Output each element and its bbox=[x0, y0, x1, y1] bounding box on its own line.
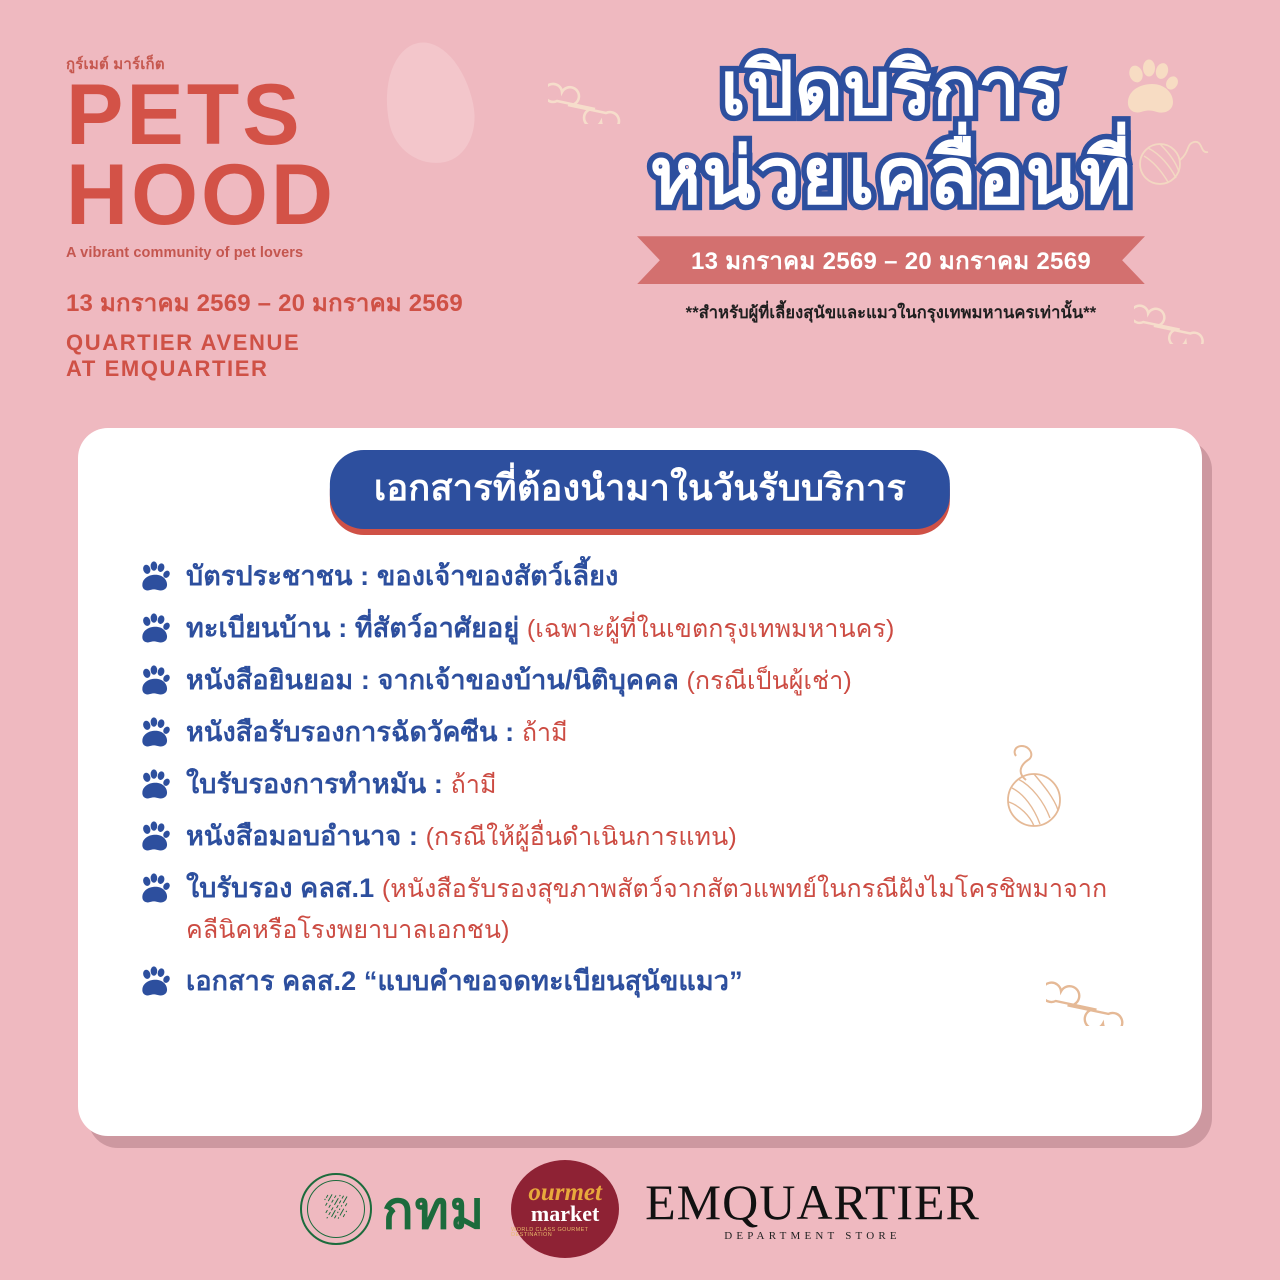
list-item: หนังสือยินยอม : จากเจ้าของบ้าน/นิติบุคคล… bbox=[138, 660, 1172, 701]
emquartier-sub-label: DEPARTMENT STORE bbox=[724, 1230, 901, 1242]
bangkok-seal-icon: ⛆ bbox=[300, 1173, 372, 1245]
eligibility-note: **สำหรับผู้ที่เลี้ยงสุนัขและแมวในกรุงเทพ… bbox=[556, 300, 1226, 326]
list-item: หนังสือรับรองการฉัดวัคซีน : ถ้ามี bbox=[138, 712, 1172, 753]
paw-bullet-icon bbox=[138, 664, 172, 698]
footer-logos: ⛆ กทม ourmet market WORLD CLASS GOURMET … bbox=[0, 1160, 1280, 1258]
venue-line-1: QUARTIER AVENUE bbox=[66, 330, 536, 356]
paw-bullet-icon bbox=[138, 768, 172, 802]
venue-line-2: AT EMQUARTIER bbox=[66, 356, 536, 382]
bangkok-logo-label: กทม bbox=[382, 1168, 485, 1251]
bangkok-logo: ⛆ กทม bbox=[300, 1168, 485, 1251]
list-item: เอกสาร คลส.2 “แบบคำขอจดทะเบียนสุนัขแมว” bbox=[138, 961, 1172, 1002]
documents-list: บัตรประชาชน : ของเจ้าของสัตว์เลี้ยง ทะเบ… bbox=[138, 556, 1172, 1013]
paw-bullet-icon bbox=[138, 820, 172, 854]
paw-bullet-icon bbox=[138, 560, 172, 594]
indra-airavata-glyph: ⛆ bbox=[302, 1175, 370, 1243]
list-item-text: หนังสือมอบอำนาจ : (กรณีให้ผู้อื่นดำเนินก… bbox=[186, 816, 737, 857]
brand-tagline: A vibrant community of pet lovers bbox=[66, 245, 536, 261]
gourmet-tagline: WORLD CLASS GOURMET DESTINATION bbox=[511, 1228, 619, 1239]
poster-root: กูร์เมต์ มาร์เก็ต PETS HOOD A vibrant co… bbox=[0, 0, 1280, 1280]
card-banner-title: เอกสารที่ต้องนำมาในวันรับบริการ bbox=[374, 459, 906, 516]
list-item-text: หนังสือยินยอม : จากเจ้าของบ้าน/นิติบุคคล… bbox=[186, 660, 852, 701]
logo-word-pets: PETS bbox=[66, 78, 536, 154]
list-item-text: ทะเบียนบ้าน : ที่สัตว์อาศัยอยู่ (เฉพาะผู… bbox=[186, 608, 894, 649]
market-word: market bbox=[531, 1203, 599, 1225]
event-date-range: 13 มกราคม 2569 – 20 มกราคม 2569 bbox=[66, 283, 536, 322]
gourmet-market-logo: ourmet market WORLD CLASS GOURMET DESTIN… bbox=[511, 1160, 619, 1258]
list-item-text: ใบรับรอง คลส.1 (หนังสือรับรองสุขภาพสัตว์… bbox=[186, 868, 1172, 950]
list-item-text: ใบรับรองการทำหมัน : ถ้ามี bbox=[186, 764, 497, 805]
headline-line-1: เปิดบริการ bbox=[556, 48, 1226, 131]
headline-block: เปิดบริการ หน่วยเคลื่อนที่ 13 มกราคม 256… bbox=[556, 48, 1226, 326]
paw-bullet-icon bbox=[138, 716, 172, 750]
paw-bullet-icon bbox=[138, 965, 172, 999]
ribbon-date-text: 13 มกราคม 2569 – 20 มกราคม 2569 bbox=[637, 236, 1145, 284]
list-item-text: หนังสือรับรองการฉัดวัคซีน : ถ้ามี bbox=[186, 712, 568, 753]
list-item-text: เอกสาร คลส.2 “แบบคำขอจดทะเบียนสุนัขแมว” bbox=[186, 961, 743, 1002]
paw-bullet-icon bbox=[138, 872, 172, 906]
logo-word-hood: HOOD bbox=[66, 158, 536, 234]
date-ribbon: 13 มกราคม 2569 – 20 มกราคม 2569 bbox=[637, 236, 1145, 284]
list-item: บัตรประชาชน : ของเจ้าของสัตว์เลี้ยง bbox=[138, 556, 1172, 597]
paw-bullet-icon bbox=[138, 612, 172, 646]
list-item: ทะเบียนบ้าน : ที่สัตว์อาศัยอยู่ (เฉพาะผู… bbox=[138, 608, 1172, 649]
emquartier-wordmark: EMQUARTIER bbox=[645, 1177, 980, 1227]
list-item: หนังสือมอบอำนาจ : (กรณีให้ผู้อื่นดำเนินก… bbox=[138, 816, 1172, 857]
card-banner: เอกสารที่ต้องนำมาในวันรับบริการ bbox=[330, 450, 950, 529]
emquartier-logo: EMQUARTIER DEPARTMENT STORE bbox=[645, 1177, 980, 1242]
list-item: ใบรับรองการทำหมัน : ถ้ามี bbox=[138, 764, 1172, 805]
list-item-text: บัตรประชาชน : ของเจ้าของสัตว์เลี้ยง bbox=[186, 556, 618, 597]
brand-logo-block: กูร์เมต์ มาร์เก็ต PETS HOOD A vibrant co… bbox=[66, 52, 536, 381]
headline-line-2: หน่วยเคลื่อนที่ bbox=[556, 133, 1226, 220]
list-item: ใบรับรอง คลส.1 (หนังสือรับรองสุขภาพสัตว์… bbox=[138, 868, 1172, 950]
documents-card: เอกสารที่ต้องนำมาในวันรับบริการ บัตรประช… bbox=[78, 428, 1202, 1136]
